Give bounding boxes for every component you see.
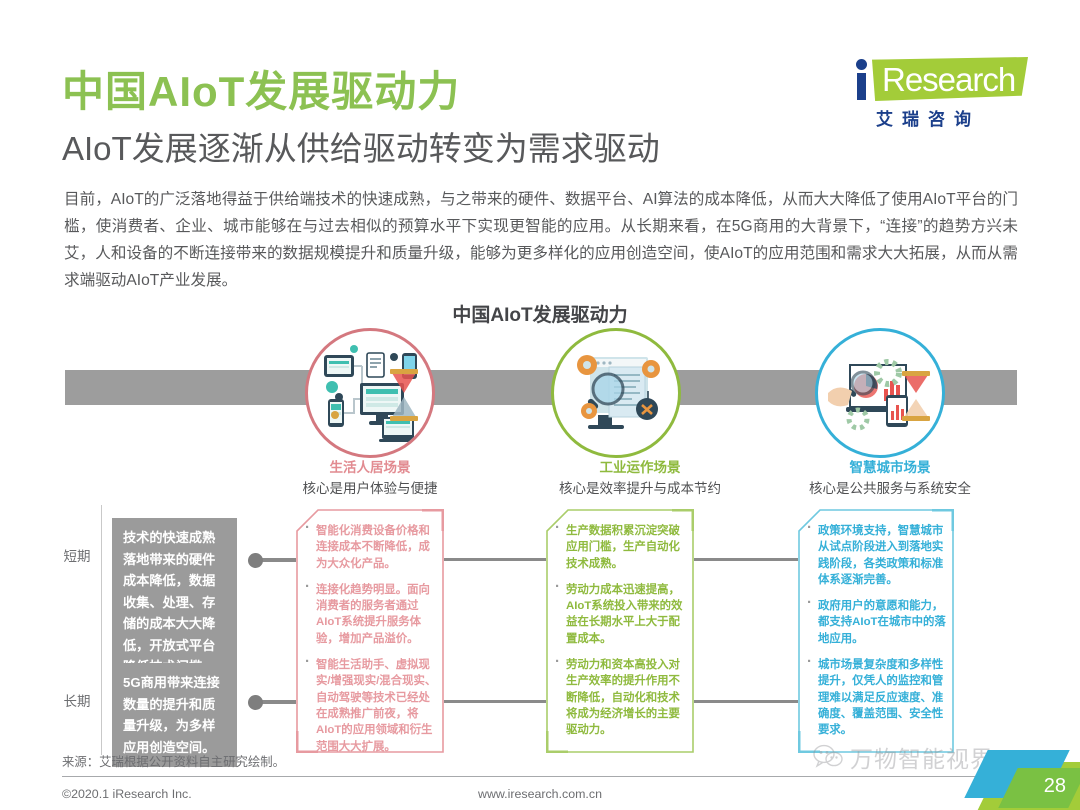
panel-item: 劳动力成本迅速提高，AIoT系统投入带来的效益在长期水平上大于配置成本。 [552, 582, 688, 647]
panel-item: 智能化消费设备价格和连接成本不断降低，成为大众化产品。 [302, 523, 438, 572]
smart-city-analytics-icon [818, 331, 942, 455]
panel-living-scenario: 智能化消费设备价格和连接成本不断降低，成为大众化产品。 连接化趋势明显。面向消费… [296, 509, 444, 753]
panel-item: 政策环境支持，智慧城市从试点阶段进入到落地实践阶段，各类政策和标准体系逐渐完善。 [804, 523, 948, 588]
panel-item: 连接化趋势明显。面向消费者的服务者通过AIoT系统提升服务体验，增加产品溢价。 [302, 582, 438, 647]
page-subtitle: AIoT发展逐渐从供给驱动转变为需求驱动 [62, 122, 660, 170]
scenario-name: 工业运作场景 [520, 458, 760, 478]
panel-item: 政府用户的意愿和能力，都支持AIoT在城市中的落地应用。 [804, 598, 948, 647]
scenario-circle-city [815, 328, 945, 458]
driver-box-short-term: 技术的快速成熟落地带来的硬件成本降低，数据收集、处理、存储的成本大大降低，开放式… [112, 518, 237, 687]
site-url: www.iresearch.com.cn [0, 787, 1080, 801]
scenario-circle-industry [551, 328, 681, 458]
wechat-icon [813, 744, 843, 770]
scenario-label-living: 生活人居场景 核心是用户体验与便捷 [250, 458, 490, 499]
panel-items: 生产数据积累沉淀突破应用门槛，生产自动化技术成熟。 劳动力成本迅速提高，AIoT… [552, 523, 688, 749]
logo-i-stem [857, 73, 866, 100]
source-note: 来源：艾瑞根据公开资料自主研究绘制。 [62, 752, 285, 770]
connector-line [442, 558, 546, 561]
logo-i-dot [856, 59, 867, 70]
scenario-name: 生活人居场景 [250, 458, 490, 478]
slide-page: 中国AIoT发展驱动力 AIoT发展逐渐从供给驱动转变为需求驱动 Researc… [0, 0, 1080, 810]
scenario-label-city: 智慧城市场景 核心是公共服务与系统安全 [770, 458, 1010, 499]
logo-mark: Research [848, 55, 1028, 103]
footer-divider [62, 776, 1018, 777]
scenario-desc: 核心是公共服务与系统安全 [770, 478, 1010, 499]
term-label-short: 短期 [56, 545, 98, 565]
smart-home-devices-icon [308, 331, 432, 455]
chart-title: 中国AIoT发展驱动力 [0, 300, 1080, 327]
scenario-desc: 核心是用户体验与便捷 [250, 478, 490, 499]
panel-item: 劳动力和资本高投入对生产效率的提升作用不断降低，自动化和技术将成为经济增长的主要… [552, 657, 688, 738]
connector-line [442, 700, 546, 703]
body-paragraph: 目前，AIoT的广泛落地得益于供给端技术的快速成熟，与之带来的硬件、数据平台、A… [64, 186, 1018, 294]
scenario-circle-living [305, 328, 435, 458]
logo-chinese-name: 艾瑞咨询 [876, 105, 980, 130]
panel-item: 智能生活助手、虚拟现实/增强现实/混合现实、自动驾驶等技术已经处在成熟推广前夜，… [302, 657, 438, 755]
timeline-axis [101, 505, 102, 755]
connector-line [693, 558, 799, 561]
scenario-name: 智慧城市场景 [770, 458, 1010, 478]
panel-items: 政策环境支持，智慧城市从试点阶段进入到落地实践阶段，各类政策和标准体系逐渐完善。… [804, 523, 948, 749]
connector-line [693, 700, 799, 703]
page-title: 中国AIoT发展驱动力 [62, 58, 460, 119]
term-label-long: 长期 [56, 690, 98, 710]
connector-dot [248, 695, 263, 710]
industrial-monitor-gears-icon [554, 331, 678, 455]
panel-city-scenario: 政策环境支持，智慧城市从试点阶段进入到落地实践阶段，各类政策和标准体系逐渐完善。… [798, 509, 954, 753]
panel-item: 城市场景复杂度和多样性提升，仅凭人的监控和管理难以满足反应速度、准确度、覆盖范围… [804, 657, 948, 738]
page-number: 28 [1044, 775, 1066, 798]
iresearch-logo: Research 艾瑞咨询 [848, 55, 1028, 131]
logo-wordmark: Research [882, 61, 1015, 99]
scenario-desc: 核心是效率提升与成本节约 [520, 478, 760, 499]
panel-item: 生产数据积累沉淀突破应用门槛，生产自动化技术成熟。 [552, 523, 688, 572]
panel-industry-scenario: 生产数据积累沉淀突破应用门槛，生产自动化技术成熟。 劳动力成本迅速提高，AIoT… [546, 509, 694, 753]
panel-items: 智能化消费设备价格和连接成本不断降低，成为大众化产品。 连接化趋势明显。面向消费… [302, 523, 438, 765]
connector-dot [248, 553, 263, 568]
scenario-label-industry: 工业运作场景 核心是效率提升与成本节约 [520, 458, 760, 499]
